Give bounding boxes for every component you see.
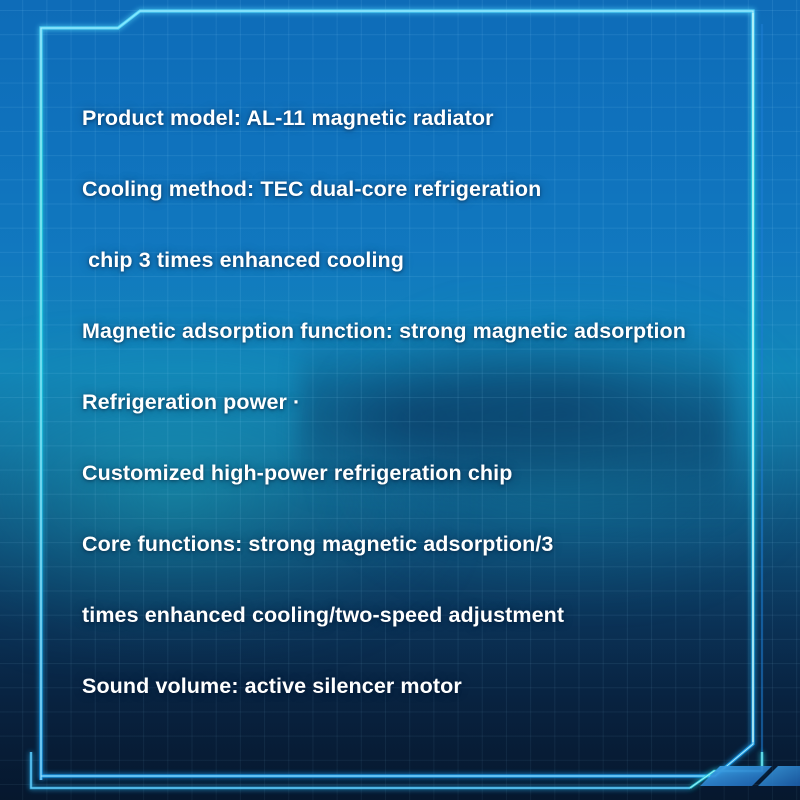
spec-line-refrigeration-power: Refrigeration power · xyxy=(82,390,300,415)
product-spec-card: Product model: AL-11 magnetic radiator C… xyxy=(0,0,800,800)
spec-line-core-functions-cont: times enhanced cooling/two-speed adjustm… xyxy=(82,603,564,628)
spec-line-chip-cooling: chip 3 times enhanced cooling xyxy=(82,248,404,273)
spec-line-product-model: Product model: AL-11 magnetic radiator xyxy=(82,106,494,131)
spec-line-magnetic-adsorption: Magnetic adsorption function: strong mag… xyxy=(82,319,686,344)
spec-line-core-functions: Core functions: strong magnetic adsorpti… xyxy=(82,532,553,557)
spec-list: Product model: AL-11 magnetic radiator C… xyxy=(0,0,800,800)
spec-line-custom-chip: Customized high-power refrigeration chip xyxy=(82,461,512,486)
spec-line-sound-volume: Sound volume: active silencer motor xyxy=(82,674,462,699)
spec-line-cooling-method: Cooling method: TEC dual-core refrigerat… xyxy=(82,177,541,202)
